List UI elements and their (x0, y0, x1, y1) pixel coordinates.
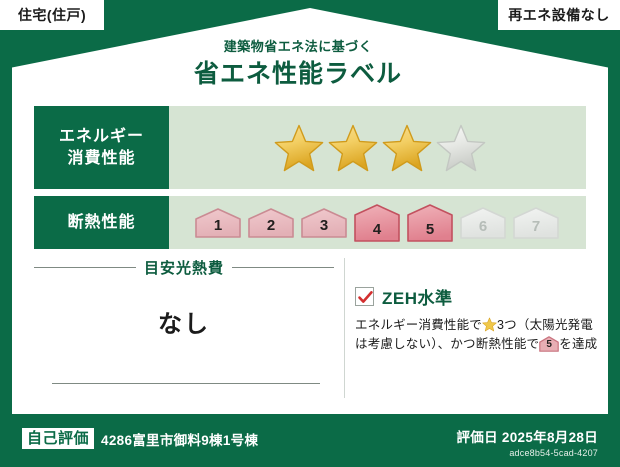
label-body-panel: エネルギー 消費性能 断熱性能 1234567 目安光熱費 なし (12, 96, 608, 414)
footer-right-group: 評価日 2025年8月28日 adce8b54-5cad-4207 (456, 426, 598, 458)
star-icon-empty (436, 123, 486, 173)
column-divider (344, 258, 345, 398)
zeh-title: ZEH水準 (382, 284, 453, 309)
evaluation-id: adce8b54-5cad-4207 (456, 448, 598, 458)
energy-performance-label-line2: 消費性能 (67, 148, 135, 170)
energy-performance-row: エネルギー 消費性能 (34, 106, 586, 189)
insulation-level-2: 2 (246, 208, 296, 238)
energy-performance-label: 住宅(住戸) 再エネ設備なし 建築物省エネ法に基づく 省エネ性能ラベル エネルギ… (0, 0, 620, 467)
insulation-performance-row: 断熱性能 1234567 (34, 196, 586, 249)
header-subtitle: 建築物省エネ法に基づく (0, 36, 596, 55)
insulation-level-1: 1 (193, 208, 243, 238)
housing-type-tab-label: 住宅(住戸) (18, 7, 86, 23)
star-icon-filled (274, 123, 324, 173)
zeh-description-part3: を達成 (559, 337, 597, 351)
footer-left-group: 自己評価 4286富里市御料9棟1号棟 (22, 428, 258, 449)
label-footer: 自己評価 4286富里市御料9棟1号棟 評価日 2025年8月28日 adce8… (0, 414, 620, 467)
utility-cost-block: 目安光熱費 なし (34, 257, 334, 402)
energy-performance-label-line1: エネルギー (59, 126, 144, 148)
utility-cost-underline (52, 383, 320, 384)
star-icon-filled (382, 123, 432, 173)
insulation-level-3: 3 (299, 208, 349, 238)
utility-cost-heading: 目安光熱費 (34, 257, 334, 278)
zeh-description-part1: エネルギー消費性能で (355, 318, 482, 332)
insulation-performance-label-text: 断熱性能 (67, 212, 135, 234)
zeh-description: エネルギー消費性能で3つ（太陽光発電は考慮しない）、かつ断熱性能で5を達成 (355, 316, 600, 355)
insulation-level-4: 4 (352, 204, 402, 242)
insulation-level-6: 6 (458, 207, 508, 239)
insulation-level-scale: 1234567 (169, 196, 586, 249)
building-name: 4286富里市御料9棟1号棟 (101, 429, 258, 449)
energy-performance-label: エネルギー 消費性能 (34, 106, 169, 189)
utility-cost-value: なし (34, 304, 334, 339)
self-evaluation-badge: 自己評価 (22, 428, 94, 449)
housing-type-tab: 住宅(住戸) (0, 0, 104, 30)
renewable-equipment-tab: 再エネ設備なし (498, 0, 620, 30)
insulation-level-5: 5 (405, 204, 455, 242)
renewable-equipment-tab-label: 再エネ設備なし (508, 7, 610, 23)
zeh-title-row: ZEH水準 (355, 284, 600, 309)
star-icon-filled (328, 123, 378, 173)
utility-cost-heading-text: 目安光熱費 (144, 257, 224, 278)
evaluation-date: 評価日 2025年8月28日 (456, 426, 598, 446)
star-icon (482, 317, 497, 332)
heading-rule-left (34, 267, 136, 268)
insulation-level-badge-number: 5 (539, 337, 559, 353)
insulation-level-badge-icon: 5 (539, 336, 559, 352)
energy-star-rating (169, 106, 586, 189)
insulation-performance-label: 断熱性能 (34, 196, 169, 249)
zeh-standard-block: ZEH水準 エネルギー消費性能で3つ（太陽光発電は考慮しない）、かつ断熱性能で5… (355, 284, 600, 355)
insulation-level-7: 7 (511, 207, 561, 239)
check-icon (355, 287, 374, 306)
heading-rule-right (232, 267, 334, 268)
header-title: 省エネ性能ラベル (0, 54, 596, 90)
